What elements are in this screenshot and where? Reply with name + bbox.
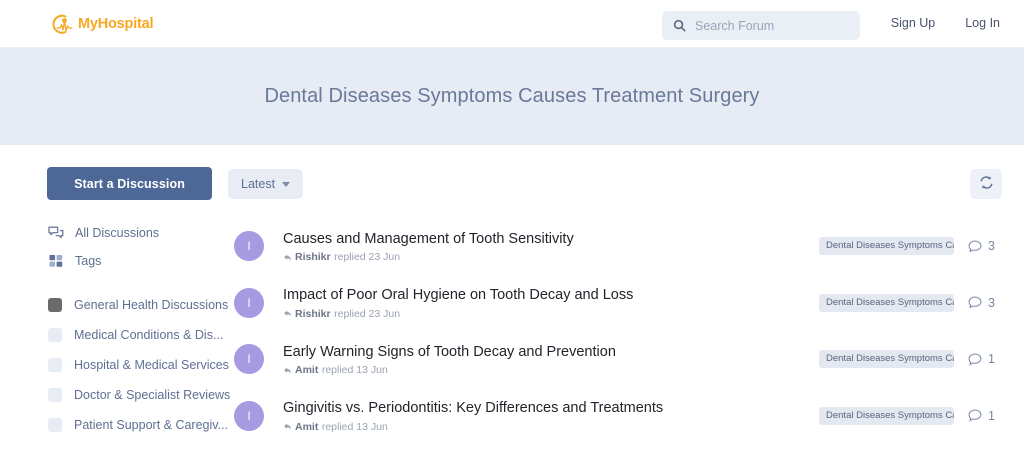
sidebar-item-label: Medical Conditions & Dis... xyxy=(74,328,223,342)
discussion-title[interactable]: Gingivitis vs. Periodontitis: Key Differ… xyxy=(283,399,819,417)
reply-arrow-icon xyxy=(283,253,292,262)
discussion-row-right: Dental Diseases Symptoms Causes Treatmen… xyxy=(819,294,1002,312)
discussion-meta: Amit replied 13 Jun xyxy=(283,422,819,433)
avatar: I xyxy=(234,344,264,374)
discussion-author: Rishikr xyxy=(295,309,331,320)
sidebar-nav: All Discussions Tags xyxy=(47,219,228,275)
comment-count-group: 1 xyxy=(968,409,1002,423)
discussion-list-panel: Latest I Causes and Mana xyxy=(228,167,1024,444)
category-color-swatch xyxy=(48,388,62,402)
discussion-meta: Amit replied 13 Jun xyxy=(283,365,819,376)
sidebar-item-medical-conditions[interactable]: Medical Conditions & Dis... xyxy=(47,320,228,350)
comment-count: 1 xyxy=(988,352,995,366)
list-toolbar: Latest xyxy=(228,167,1002,201)
category-color-swatch xyxy=(48,328,62,342)
tag-badge[interactable]: Dental Diseases Symptoms Causes Treatmen… xyxy=(819,407,954,425)
discussion-timestamp: replied 23 Jun xyxy=(334,252,400,263)
sidebar-item-label: Tags xyxy=(75,254,101,268)
sidebar-item-hospital-medical-services[interactable]: Hospital & Medical Services xyxy=(47,350,228,380)
search-icon xyxy=(673,19,686,32)
reply-arrow-icon xyxy=(283,422,292,431)
category-color-swatch xyxy=(48,358,62,372)
discussion-row[interactable]: I Early Warning Signs of Tooth Decay and… xyxy=(228,331,1002,388)
reply-arrow-icon xyxy=(283,366,292,375)
discussions-icon xyxy=(47,226,64,240)
search-input[interactable] xyxy=(695,19,845,33)
category-color-swatch xyxy=(48,298,62,312)
tag-badge[interactable]: Dental Diseases Symptoms Causes Treatmen… xyxy=(819,350,954,368)
discussion-row-right: Dental Diseases Symptoms Causes Treatmen… xyxy=(819,407,1002,425)
discussion-meta: Rishikr replied 23 Jun xyxy=(283,309,819,320)
discussion-author: Amit xyxy=(295,365,318,376)
discussion-timestamp: replied 23 Jun xyxy=(334,309,400,320)
sidebar-categories: General Health Discussions Medical Condi… xyxy=(47,290,228,440)
sidebar-item-doctor-specialist-reviews[interactable]: Doctor & Specialist Reviews xyxy=(47,380,228,410)
refresh-icon xyxy=(979,175,994,193)
sidebar-item-general-health-discussions[interactable]: General Health Discussions xyxy=(47,290,228,320)
tag-badge[interactable]: Dental Diseases Symptoms Causes Treatmen… xyxy=(819,237,954,255)
site-logo[interactable]: MyHospital xyxy=(50,11,153,37)
discussion-title[interactable]: Impact of Poor Oral Hygiene on Tooth Dec… xyxy=(283,286,819,304)
sidebar-item-label: Patient Support & Caregiv... xyxy=(74,418,228,432)
sort-dropdown-label: Latest xyxy=(241,177,275,191)
discussion-author: Rishikr xyxy=(295,252,331,263)
refresh-button[interactable] xyxy=(970,169,1002,199)
discussion-timestamp: replied 13 Jun xyxy=(322,422,388,433)
comment-count-group: 1 xyxy=(968,352,1002,366)
sidebar-item-label: All Discussions xyxy=(75,226,159,240)
search-box[interactable] xyxy=(662,11,860,40)
discussion-title[interactable]: Causes and Management of Tooth Sensitivi… xyxy=(283,230,819,248)
comment-count: 3 xyxy=(988,239,995,253)
page-title: Dental Diseases Symptoms Causes Treatmen… xyxy=(264,85,759,108)
avatar: I xyxy=(234,401,264,431)
discussion-row-right: Dental Diseases Symptoms Causes Treatmen… xyxy=(819,350,1002,368)
sort-dropdown[interactable]: Latest xyxy=(228,169,303,199)
auth-links: Sign Up Log In xyxy=(891,16,1000,30)
page-content: Start a Discussion All Discussions xyxy=(0,145,1024,444)
chevron-down-icon xyxy=(282,182,290,187)
discussion-row[interactable]: I Gingivitis vs. Periodontitis: Key Diff… xyxy=(228,388,1002,445)
sidebar: Start a Discussion All Discussions xyxy=(0,167,228,444)
discussion-row[interactable]: I Causes and Management of Tooth Sensiti… xyxy=(228,218,1002,275)
discussion-row[interactable]: I Impact of Poor Oral Hygiene on Tooth D… xyxy=(228,275,1002,332)
sidebar-item-all-discussions[interactable]: All Discussions xyxy=(47,219,228,247)
comment-bubble-icon xyxy=(968,240,982,253)
discussion-timestamp: replied 13 Jun xyxy=(322,365,388,376)
category-color-swatch xyxy=(48,418,62,432)
hero-banner: Dental Diseases Symptoms Causes Treatmen… xyxy=(0,48,1024,145)
comment-count: 1 xyxy=(988,409,995,423)
sidebar-item-label: Doctor & Specialist Reviews xyxy=(74,388,230,402)
logo-text: MyHospital xyxy=(78,17,153,32)
tag-badge[interactable]: Dental Diseases Symptoms Causes Treatmen… xyxy=(819,294,954,312)
start-discussion-button[interactable]: Start a Discussion xyxy=(47,167,212,200)
discussion-meta: Rishikr replied 23 Jun xyxy=(283,252,819,263)
discussion-row-main: Impact of Poor Oral Hygiene on Tooth Dec… xyxy=(283,286,819,319)
avatar: I xyxy=(234,231,264,261)
tags-grid-icon xyxy=(47,254,64,268)
discussion-author: Amit xyxy=(295,422,318,433)
pulse-circle-icon xyxy=(50,12,80,36)
comment-bubble-icon xyxy=(968,409,982,422)
discussion-row-main: Gingivitis vs. Periodontitis: Key Differ… xyxy=(283,399,819,432)
discussion-row-main: Early Warning Signs of Tooth Decay and P… xyxy=(283,343,819,376)
site-header: MyHospital Sign Up Log In xyxy=(0,0,1024,48)
comment-count-group: 3 xyxy=(968,296,1002,310)
comment-count-group: 3 xyxy=(968,239,1002,253)
avatar: I xyxy=(234,288,264,318)
log-in-link[interactable]: Log In xyxy=(965,16,1000,30)
comment-bubble-icon xyxy=(968,353,982,366)
comment-bubble-icon xyxy=(968,296,982,309)
discussion-row-main: Causes and Management of Tooth Sensitivi… xyxy=(283,230,819,263)
comment-count: 3 xyxy=(988,296,995,310)
discussion-list: I Causes and Management of Tooth Sensiti… xyxy=(228,218,1002,444)
discussion-row-right: Dental Diseases Symptoms Causes Treatmen… xyxy=(819,237,1002,255)
sidebar-item-patient-support[interactable]: Patient Support & Caregiv... xyxy=(47,410,228,440)
discussion-title[interactable]: Early Warning Signs of Tooth Decay and P… xyxy=(283,343,819,361)
sidebar-item-label: General Health Discussions xyxy=(74,298,228,312)
sign-up-link[interactable]: Sign Up xyxy=(891,16,935,30)
sidebar-item-tags[interactable]: Tags xyxy=(47,247,228,275)
sidebar-item-label: Hospital & Medical Services xyxy=(74,358,229,372)
reply-arrow-icon xyxy=(283,309,292,318)
